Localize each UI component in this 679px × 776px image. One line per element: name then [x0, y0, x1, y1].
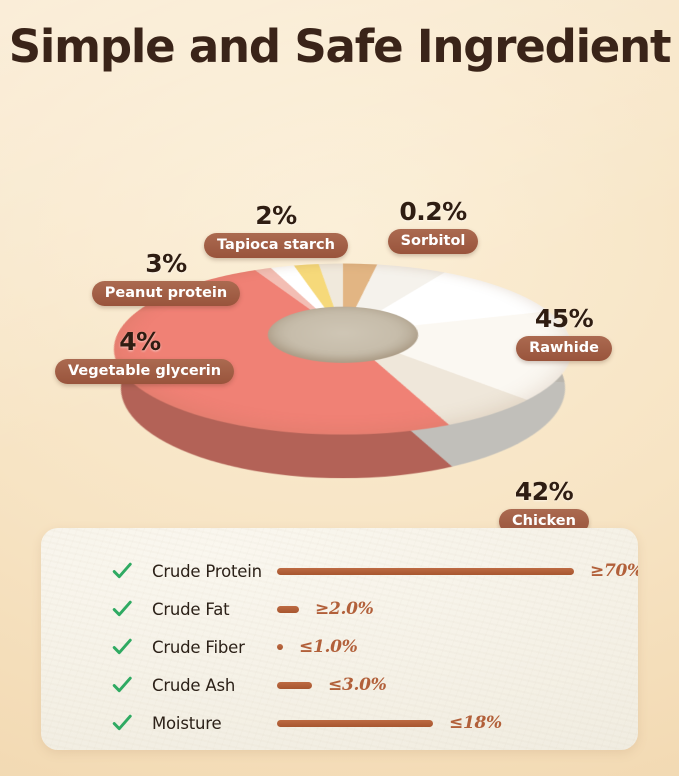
- analysis-row-value: ≤18%: [449, 713, 502, 733]
- analysis-row: Moisture≤18%: [41, 704, 638, 742]
- analysis-row: Crude Protein≥70%: [41, 552, 638, 590]
- callout-label-pill: Peanut protein: [92, 281, 240, 306]
- callout-peanut-protein: 3% Peanut protein: [82, 250, 250, 306]
- callout-percent: 0.2%: [363, 198, 503, 226]
- analysis-row-value: ≥70%: [590, 561, 638, 581]
- analysis-row-label: Crude Ash: [152, 676, 235, 695]
- callout-percent: 4%: [55, 328, 225, 356]
- callout-vegetable-glycerin: 4% Vegetable glycerin: [55, 328, 225, 384]
- analysis-row-label: Crude Fiber: [152, 638, 245, 657]
- check-icon: [111, 712, 133, 734]
- analysis-row-bar: [277, 606, 299, 613]
- callout-sorbitol: 0.2% Sorbitol: [363, 198, 503, 254]
- callout-label-pill: Sorbitol: [388, 229, 479, 254]
- analysis-row: Crude Fiber≤1.0%: [41, 628, 638, 666]
- analysis-row-label: Moisture: [152, 714, 221, 733]
- analysis-row: Crude Ash≤3.0%: [41, 666, 638, 704]
- analysis-row-value: ≤3.0%: [328, 675, 386, 695]
- callout-percent: 2%: [186, 202, 366, 230]
- analysis-row-bar: [277, 682, 312, 689]
- analysis-row-label: Crude Protein: [152, 562, 262, 581]
- analysis-row-bar: [277, 720, 433, 727]
- callout-rawhide: 45% Rawhide: [500, 305, 628, 361]
- guaranteed-analysis-panel: Crude Protein≥70%Crude Fat≥2.0%Crude Fib…: [41, 528, 638, 750]
- check-icon: [111, 636, 133, 658]
- callout-label-pill: Vegetable glycerin: [55, 359, 234, 384]
- analysis-row: Crude Fat≥2.0%: [41, 590, 638, 628]
- callout-percent: 3%: [82, 250, 250, 278]
- analysis-row-value: ≥2.0%: [315, 599, 373, 619]
- analysis-row-label: Crude Fat: [152, 600, 229, 619]
- page-title: Simple and Safe Ingredient: [0, 18, 679, 76]
- analysis-row-value: ≤1.0%: [299, 637, 357, 657]
- ingredient-donut-chart: 2% Tapioca starch 0.2% Sorbitol 3% Peanu…: [0, 90, 679, 520]
- check-icon: [111, 560, 133, 582]
- check-icon: [111, 674, 133, 696]
- check-icon: [111, 598, 133, 620]
- callout-label-pill: Rawhide: [516, 336, 612, 361]
- callout-percent: 42%: [481, 478, 607, 506]
- analysis-row-bar: [277, 644, 283, 650]
- callout-chicken: 42% Chicken: [481, 478, 607, 534]
- callout-percent: 45%: [500, 305, 628, 333]
- analysis-row-bar: [277, 568, 574, 575]
